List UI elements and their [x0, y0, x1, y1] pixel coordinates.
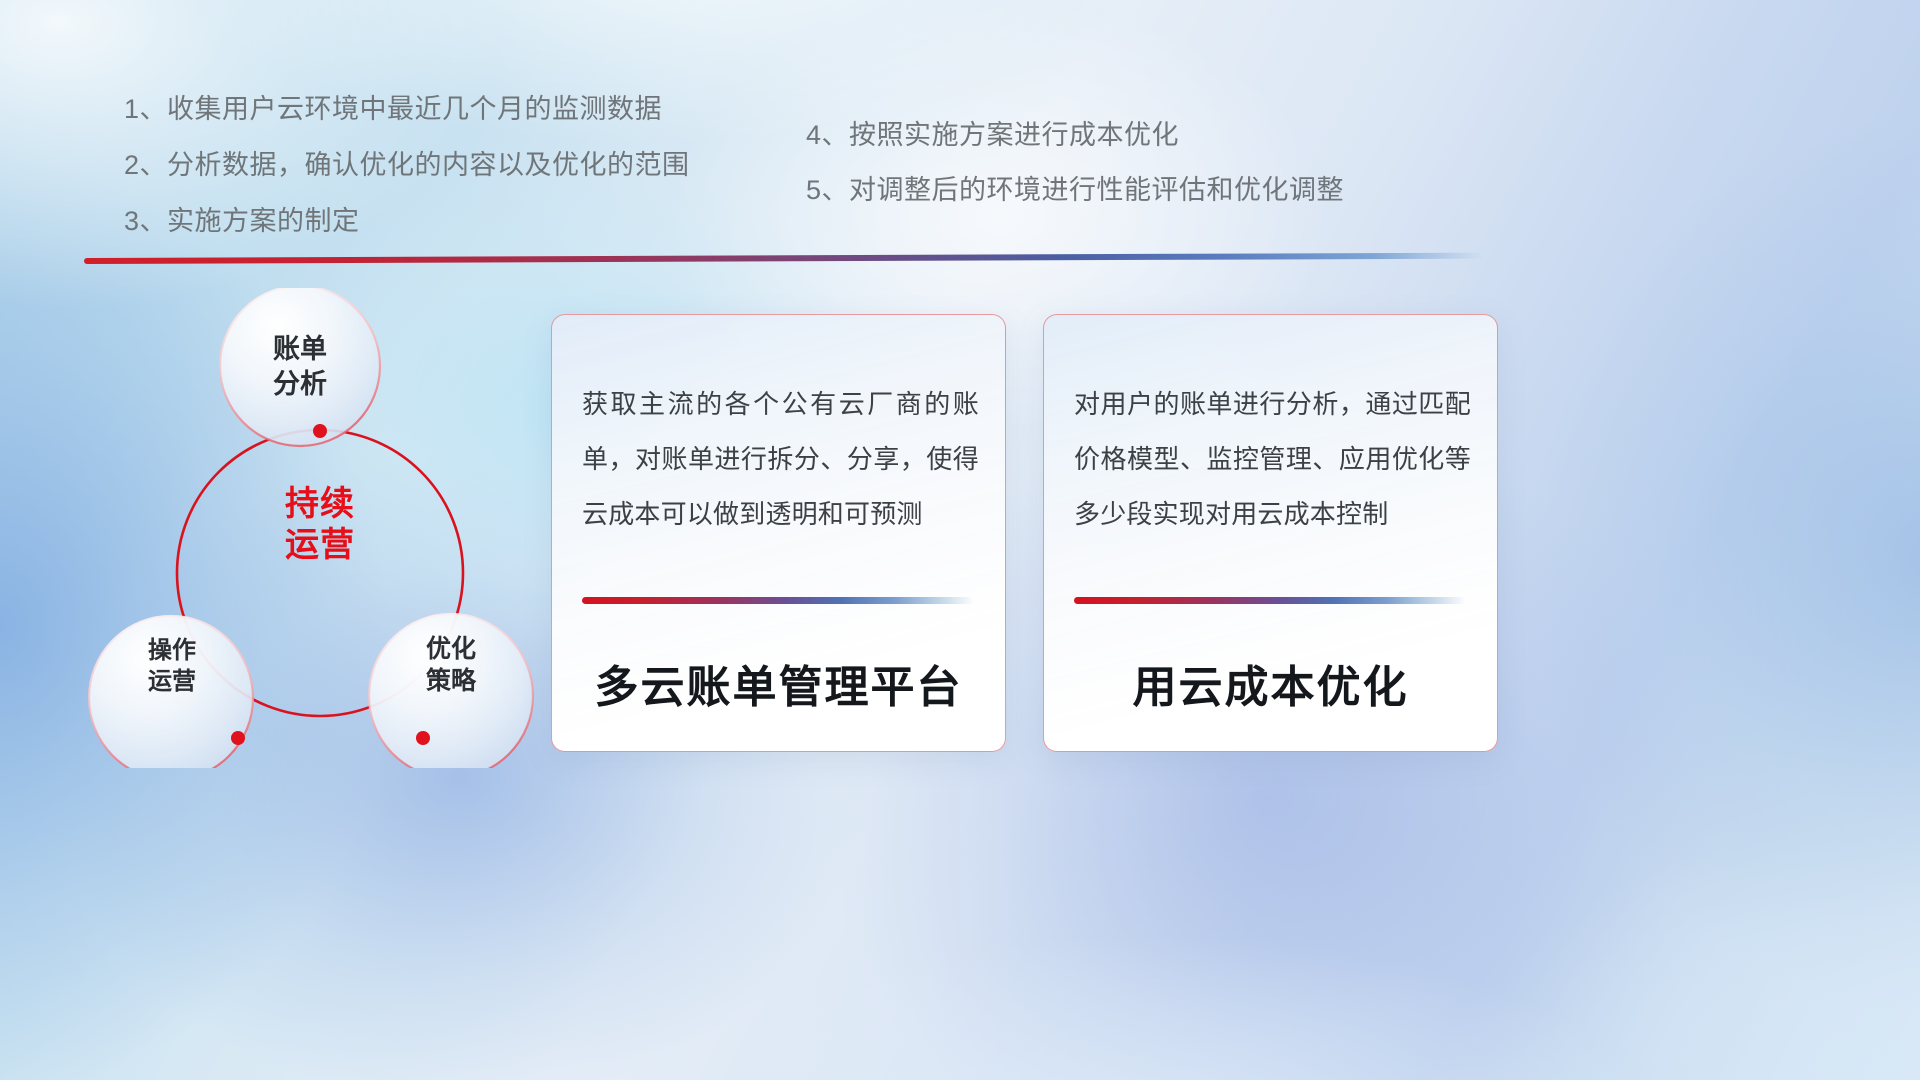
venn-label-center: 持续 运营	[241, 484, 399, 567]
step-item-3: 3、实施方案的制定	[124, 208, 690, 235]
step-item-4: 4、按照实施方案进行成本优化	[806, 122, 1344, 149]
venn-label-bottom-left: 操作 运营	[106, 636, 238, 697]
card-accent-rule	[1074, 597, 1466, 604]
venn-label-top: 账单 分析	[230, 332, 370, 401]
card-body-text: 获取主流的各个公有云厂商的账单，对账单进行拆分、分享，使得云成本可以做到透明和可…	[582, 377, 979, 542]
card-multi-cloud-billing[interactable]: 获取主流的各个公有云厂商的账单，对账单进行拆分、分享，使得云成本可以做到透明和可…	[551, 314, 1006, 752]
step-item-2: 2、分析数据，确认优化的内容以及优化的范围	[124, 152, 690, 179]
card-title: 用云成本优化	[1044, 651, 1497, 715]
card-title: 多云账单管理平台	[552, 651, 1005, 715]
venn-node-bottom-right	[416, 731, 430, 745]
venn-diagram: 账单 分析 操作 运营 优化 策略 持续 运营	[78, 288, 548, 768]
venn-node-top	[313, 424, 327, 438]
step-item-1: 1、收集用户云环境中最近几个月的监测数据	[124, 96, 690, 123]
card-accent-rule	[582, 597, 974, 604]
steps-left-column: 1、收集用户云环境中最近几个月的监测数据 2、分析数据，确认优化的内容以及优化的…	[124, 96, 690, 264]
venn-label-bottom-right: 优化 策略	[385, 633, 517, 697]
steps-right-column: 4、按照实施方案进行成本优化 5、对调整后的环境进行性能评估和优化调整	[806, 122, 1344, 232]
card-body-text: 对用户的账单进行分析，通过匹配价格模型、监控管理、应用优化等多少段实现对用云成本…	[1074, 377, 1471, 542]
step-item-5: 5、对调整后的环境进行性能评估和优化调整	[806, 177, 1344, 204]
card-cloud-cost-optimization[interactable]: 对用户的账单进行分析，通过匹配价格模型、监控管理、应用优化等多少段实现对用云成本…	[1043, 314, 1498, 752]
venn-node-bottom-left	[231, 731, 245, 745]
